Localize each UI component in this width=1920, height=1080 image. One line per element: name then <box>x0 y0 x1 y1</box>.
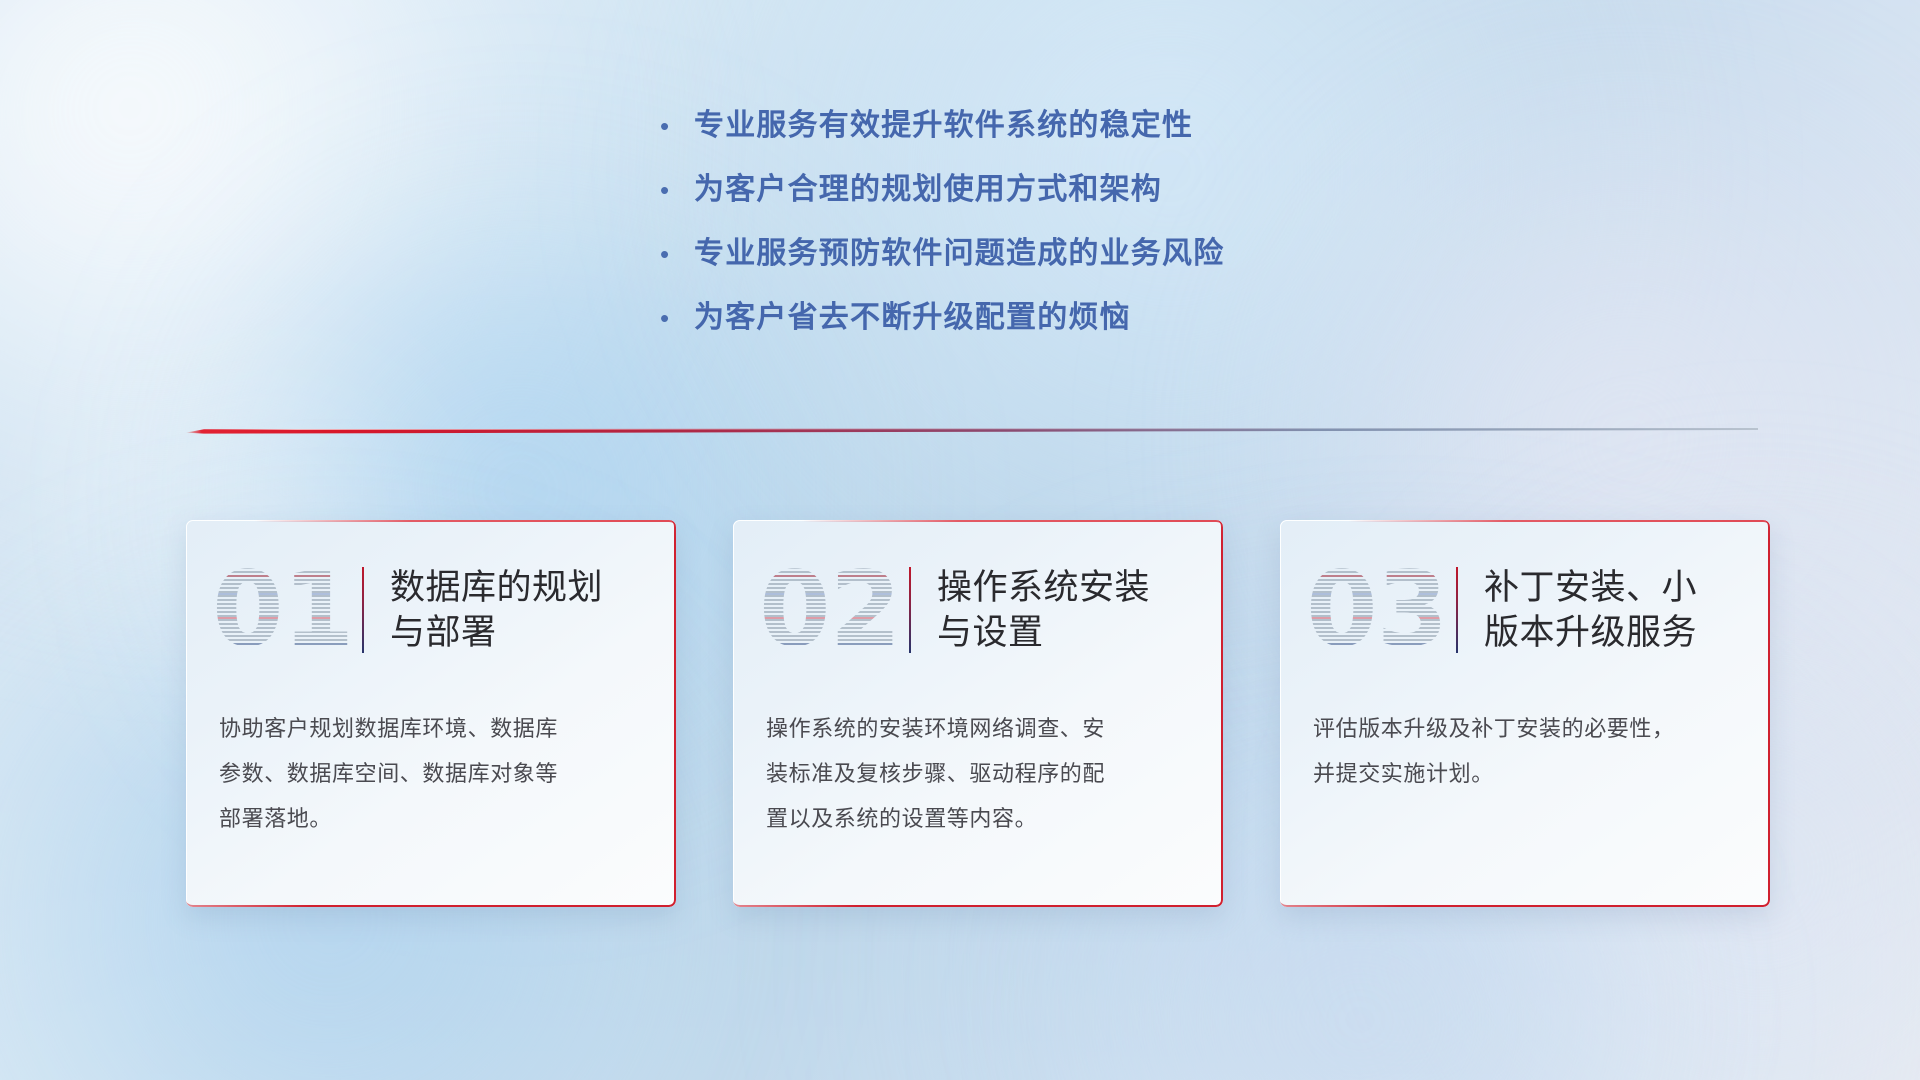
service-card[interactable]: 03 03 03 补丁安装、小 版本升级服务 评估版本升级及补丁安装的必要性， … <box>1280 520 1770 907</box>
benefits-bullet-list: • 专业服务有效提升软件系统的稳定性 • 为客户合理的规划使用方式和架构 • 专… <box>660 100 1224 356</box>
list-item: • 为客户省去不断升级配置的烦恼 <box>660 292 1224 356</box>
bullet-dot-icon: • <box>660 177 694 203</box>
service-card[interactable]: 02 02 02 操作系统安装 与设置 操作系统的安装环境网络调查、安 装标准及… <box>733 520 1223 907</box>
card-body-text: 协助客户规划数据库环境、数据库 参数、数据库空间、数据库对象等 部署落地。 <box>219 706 646 841</box>
bullet-text: 专业服务预防软件问题造成的业务风险 <box>694 228 1224 272</box>
card-number-watermark: 03 03 03 <box>1306 551 1456 669</box>
card-title: 操作系统安装 与设置 <box>937 565 1223 655</box>
bullet-dot-icon: • <box>660 241 694 267</box>
card-header: 03 03 03 补丁安装、小 版本升级服务 <box>1280 546 1770 674</box>
card-title: 补丁安装、小 版本升级服务 <box>1484 565 1770 655</box>
service-card-list: 01 01 01 数据库的规划 与部署 协助客户规划数据库环境、数据库 参数、数… <box>186 520 1770 907</box>
card-number-watermark: 02 02 02 <box>759 551 909 669</box>
section-divider <box>186 424 1758 438</box>
bullet-dot-icon: • <box>660 305 694 331</box>
bullet-dot-icon: • <box>660 113 694 139</box>
card-body-text: 评估版本升级及补丁安装的必要性， 并提交实施计划。 <box>1313 706 1740 796</box>
card-number-watermark: 01 01 01 <box>212 551 362 669</box>
list-item: • 为客户合理的规划使用方式和架构 <box>660 164 1224 228</box>
list-item: • 专业服务预防软件问题造成的业务风险 <box>660 228 1224 292</box>
card-body-text: 操作系统的安装环境网络调查、安 装标准及复核步骤、驱动程序的配 置以及系统的设置… <box>766 706 1193 841</box>
card-title-separator <box>909 567 911 653</box>
card-title-separator <box>362 567 364 653</box>
bullet-text: 专业服务有效提升软件系统的稳定性 <box>694 100 1193 144</box>
bullet-text: 为客户合理的规划使用方式和架构 <box>694 164 1162 208</box>
card-header: 01 01 01 数据库的规划 与部署 <box>186 546 676 674</box>
bullet-text: 为客户省去不断升级配置的烦恼 <box>694 292 1131 336</box>
list-item: • 专业服务有效提升软件系统的稳定性 <box>660 100 1224 164</box>
card-number-stripe-red: 03 <box>1306 551 1456 669</box>
card-title: 数据库的规划 与部署 <box>390 565 676 655</box>
card-number-stripe-red: 02 <box>759 551 909 669</box>
card-number-stripe-red: 01 <box>212 551 362 669</box>
card-title-separator <box>1456 567 1458 653</box>
card-header: 02 02 02 操作系统安装 与设置 <box>733 546 1223 674</box>
service-card[interactable]: 01 01 01 数据库的规划 与部署 协助客户规划数据库环境、数据库 参数、数… <box>186 520 676 907</box>
